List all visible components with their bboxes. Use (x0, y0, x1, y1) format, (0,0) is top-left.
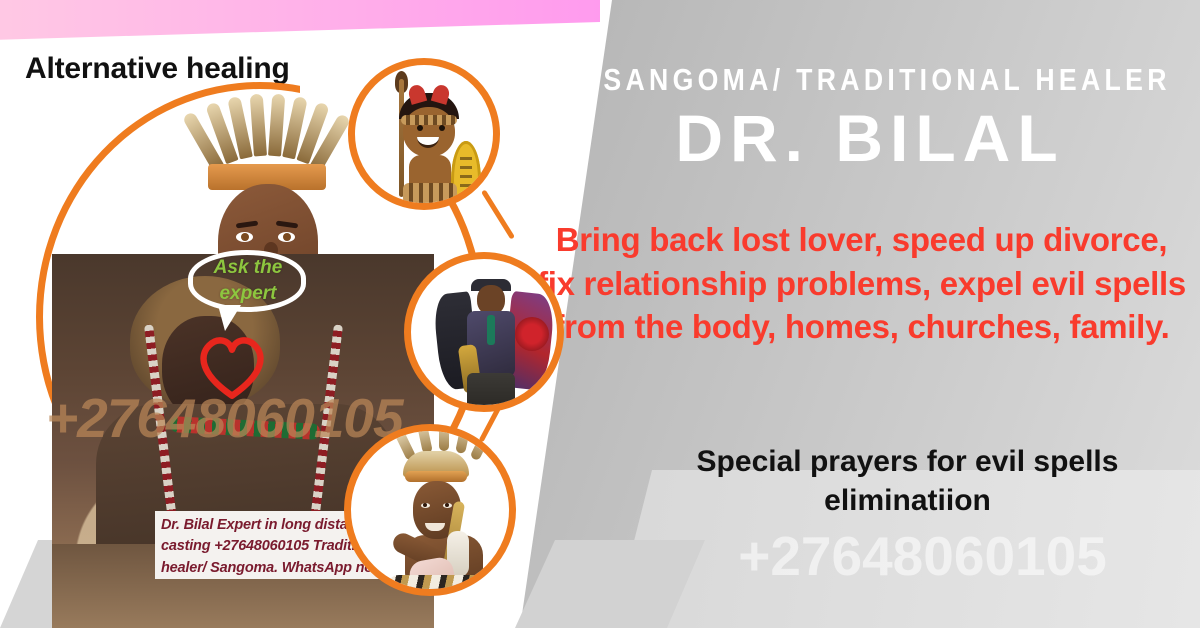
circle-badge-warrior (348, 58, 500, 210)
plume-icon (439, 424, 449, 451)
warrior-headband (401, 115, 457, 125)
eyebrow (236, 220, 258, 228)
headline-kicker: SANGOMA/ TRADITIONAL HEALER (603, 62, 1136, 98)
phone-watermark-right: +27648060105 (650, 524, 1195, 588)
poster-canvas: SANGOMA/ TRADITIONAL HEALER DR. BILAL Br… (0, 0, 1200, 628)
warrior-skirt (403, 183, 457, 209)
eye (236, 232, 253, 242)
connector-line (481, 189, 515, 239)
circle-badge-crouching-healer (344, 424, 516, 596)
eye (278, 232, 295, 242)
plume-icon (455, 424, 472, 454)
page-title: Alternative healing (25, 52, 290, 86)
speech-bubble-tail (218, 305, 241, 331)
special-offer-text: Special prayers for evil spells eliminat… (620, 442, 1195, 520)
eye (417, 125, 423, 131)
eye (443, 503, 452, 508)
top-pink-bar (0, 0, 600, 40)
plume-icon (416, 424, 433, 454)
eye (421, 503, 430, 508)
healer-name-title: DR. BILAL (560, 104, 1180, 173)
diviner-foot (463, 411, 485, 412)
necktie (487, 315, 495, 345)
diviner-legs (467, 373, 515, 412)
plume-icon (470, 426, 494, 461)
speech-bubble-label: Ask the expert (196, 255, 300, 306)
eyebrow (276, 220, 298, 228)
services-text: Bring back lost lover, speed up divorce,… (534, 218, 1189, 349)
red-emblem (515, 317, 549, 351)
circle-badge-diviner (404, 252, 564, 412)
feather-icon (250, 94, 267, 157)
eye (439, 125, 445, 131)
feather-icon (268, 94, 285, 157)
